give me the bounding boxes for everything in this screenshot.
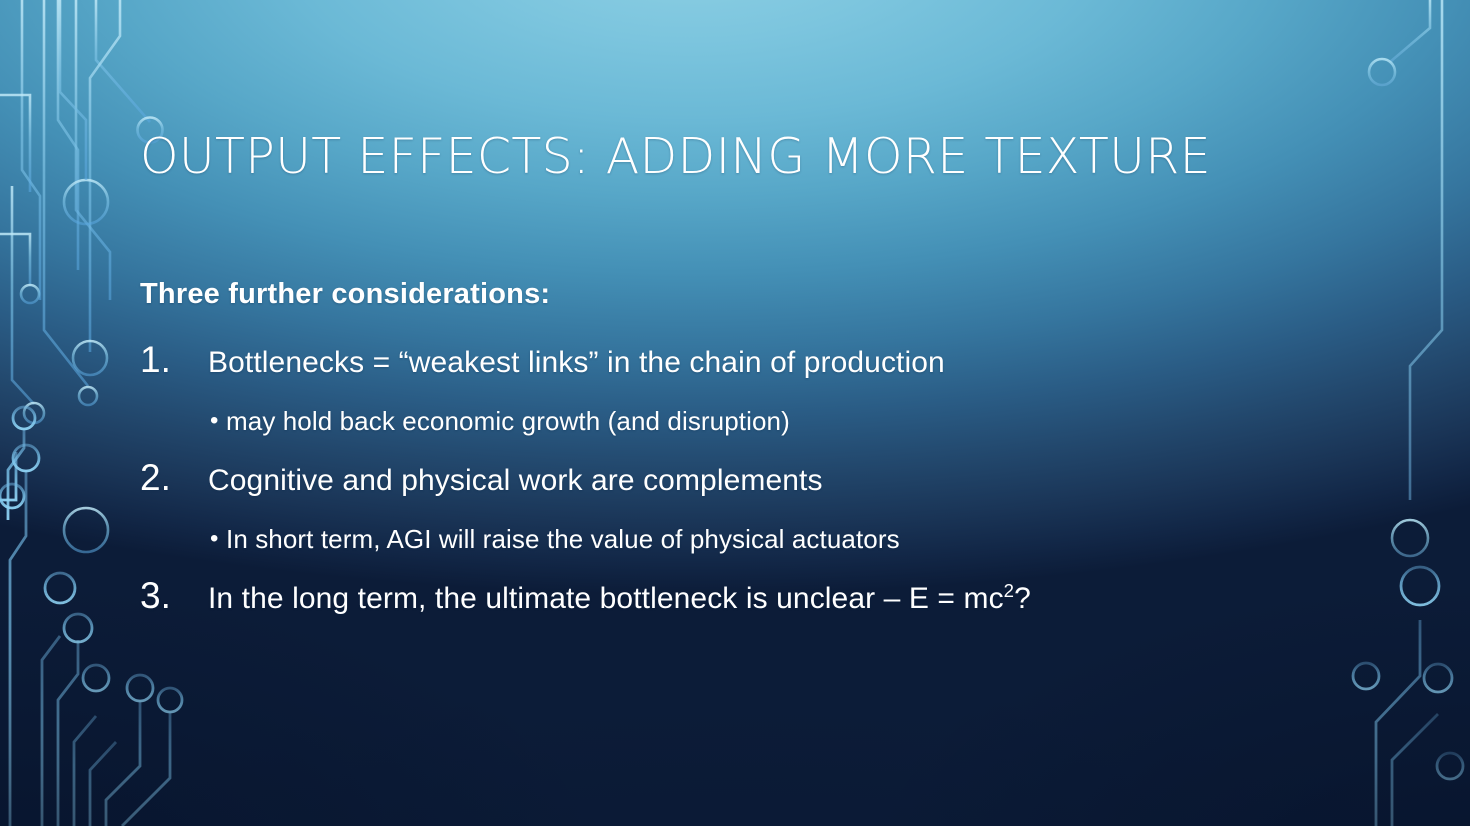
list-marker-1: 1.: [140, 341, 208, 378]
sub-bullet-2-1: • In short term, AGI will raise the valu…: [210, 524, 1390, 555]
list-marker-2: 2.: [140, 459, 208, 496]
numbered-item-3-text: In the long term, the ultimate bottlenec…: [208, 581, 1031, 616]
bullet-dot-icon: •: [210, 527, 226, 551]
body-lead-text: Three further considerations:: [140, 278, 1390, 311]
sub-bullet-1-1: • may hold back economic growth (and dis…: [210, 406, 1390, 437]
slide-title: Output effects: adding more texture: [140, 131, 1320, 184]
numbered-item-1: 1. Bottlenecks = “weakest links” in the …: [140, 341, 1390, 380]
presentation-slide: Output effects: adding more texture Thre…: [0, 0, 1470, 826]
numbered-item-2-text: Cognitive and physical work are compleme…: [208, 463, 823, 498]
numbered-item-3-text-before: In the long term, the ultimate bottlenec…: [208, 582, 1004, 615]
numbered-item-3-superscript: 2: [1004, 580, 1014, 601]
list-marker-3: 3.: [140, 577, 208, 614]
slide-body: Three further considerations: 1. Bottlen…: [140, 278, 1390, 617]
sub-bullet-1-1-text: may hold back economic growth (and disru…: [226, 406, 790, 437]
slide-content: Output effects: adding more texture Thre…: [0, 0, 1470, 826]
numbered-item-3-text-after: ?: [1014, 582, 1031, 615]
sub-bullet-2-1-text: In short term, AGI will raise the value …: [226, 524, 900, 555]
bullet-dot-icon: •: [210, 409, 226, 433]
numbered-item-2: 2. Cognitive and physical work are compl…: [140, 459, 1390, 498]
numbered-item-1-text: Bottlenecks = “weakest links” in the cha…: [208, 345, 945, 380]
numbered-item-3: 3. In the long term, the ultimate bottle…: [140, 577, 1390, 616]
